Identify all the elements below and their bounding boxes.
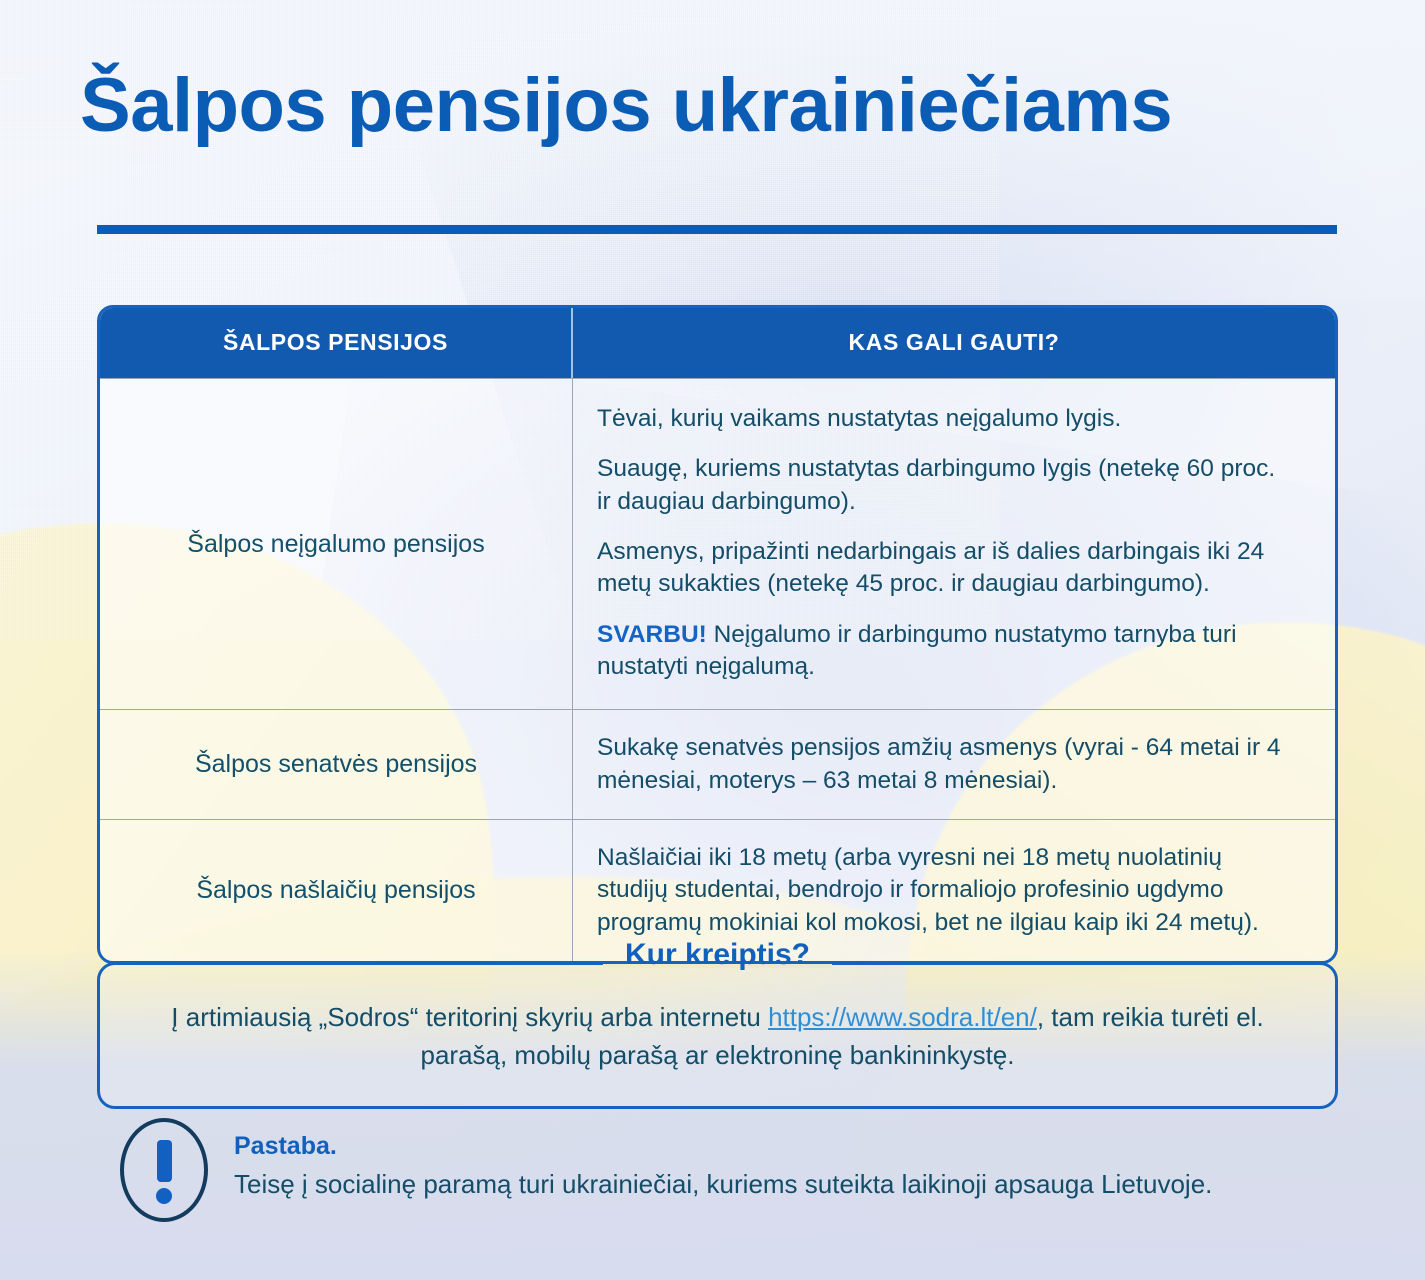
eligibility-cell: Sukakę senatvės pensijos amžių asmenys (… — [573, 710, 1335, 819]
eligibility-paragraph: Asmenys, pripažinti nedarbingais ar iš d… — [597, 536, 1295, 601]
eligibility-cell: Tėvai, kurių vaikams nustatytas neįgalum… — [573, 379, 1335, 709]
table-header-row: ŠALPOS PENSIJOS KAS GALI GAUTI? — [100, 308, 1335, 378]
note-text-block: Pastaba. Teisę į socialinę paramą turi u… — [234, 1118, 1212, 1200]
top-light-band — [0, 0, 1425, 300]
pension-type-label: Šalpos senatvės pensijos — [100, 710, 573, 819]
sodra-link[interactable]: https://www.sodra.lt/en/ — [768, 1002, 1037, 1032]
where-text-before: Į artimiausią „Sodros“ teritorinį skyrių… — [171, 1002, 768, 1032]
table-row: Šalpos senatvės pensijos Sukakę senatvės… — [100, 709, 1335, 819]
important-label: SVARBU! — [597, 621, 707, 648]
column-header-pension-type: ŠALPOS PENSIJOS — [100, 308, 573, 378]
page-title: Šalpos pensijos ukrainiečiams — [80, 62, 1172, 149]
pension-type-label: Šalpos neįgalumo pensijos — [100, 379, 573, 709]
eligibility-paragraph: Tėvai, kurių vaikams nustatytas neįgalum… — [597, 403, 1295, 435]
note-title: Pastaba. — [234, 1132, 1212, 1161]
eligibility-paragraph: Sukakę senatvės pensijos amžių asmenys (… — [597, 732, 1295, 797]
note-body: Teisę į socialinę paramą turi ukrainieči… — [234, 1169, 1212, 1200]
eligibility-cell: Našlaičiai iki 18 metų (arba vyresni nei… — [573, 820, 1335, 961]
eligibility-important-paragraph: SVARBU! Neįgalumo ir darbingumo nustatym… — [597, 619, 1295, 684]
note-section: Pastaba. Teisę į socialinę paramą turi u… — [120, 1118, 1212, 1222]
exclamation-circle-icon — [120, 1118, 208, 1222]
icon-exclamation-dot — [156, 1188, 172, 1204]
where-to-apply-box: Į artimiausią „Sodros“ teritorinį skyrių… — [97, 962, 1338, 1109]
eligibility-paragraph: Našlaičiai iki 18 metų (arba vyresni nei… — [597, 842, 1295, 939]
pensions-table: ŠALPOS PENSIJOS KAS GALI GAUTI? Šalpos n… — [97, 305, 1338, 964]
infographic-poster: Šalpos pensijos ukrainiečiams ŠALPOS PEN… — [0, 0, 1425, 1280]
icon-exclamation-bar — [157, 1140, 172, 1182]
title-underline-rule — [97, 225, 1337, 234]
column-header-eligibility: KAS GALI GAUTI? — [573, 308, 1335, 378]
eligibility-paragraph: Suaugę, kuriems nustatytas darbingumo ly… — [597, 453, 1295, 518]
where-to-apply-section: Į artimiausią „Sodros“ teritorinį skyrių… — [97, 962, 1338, 1109]
pension-type-label: Šalpos našlaičių pensijos — [100, 820, 573, 961]
table-row: Šalpos našlaičių pensijos Našlaičiai iki… — [100, 819, 1335, 961]
table-row: Šalpos neįgalumo pensijos Tėvai, kurių v… — [100, 378, 1335, 709]
